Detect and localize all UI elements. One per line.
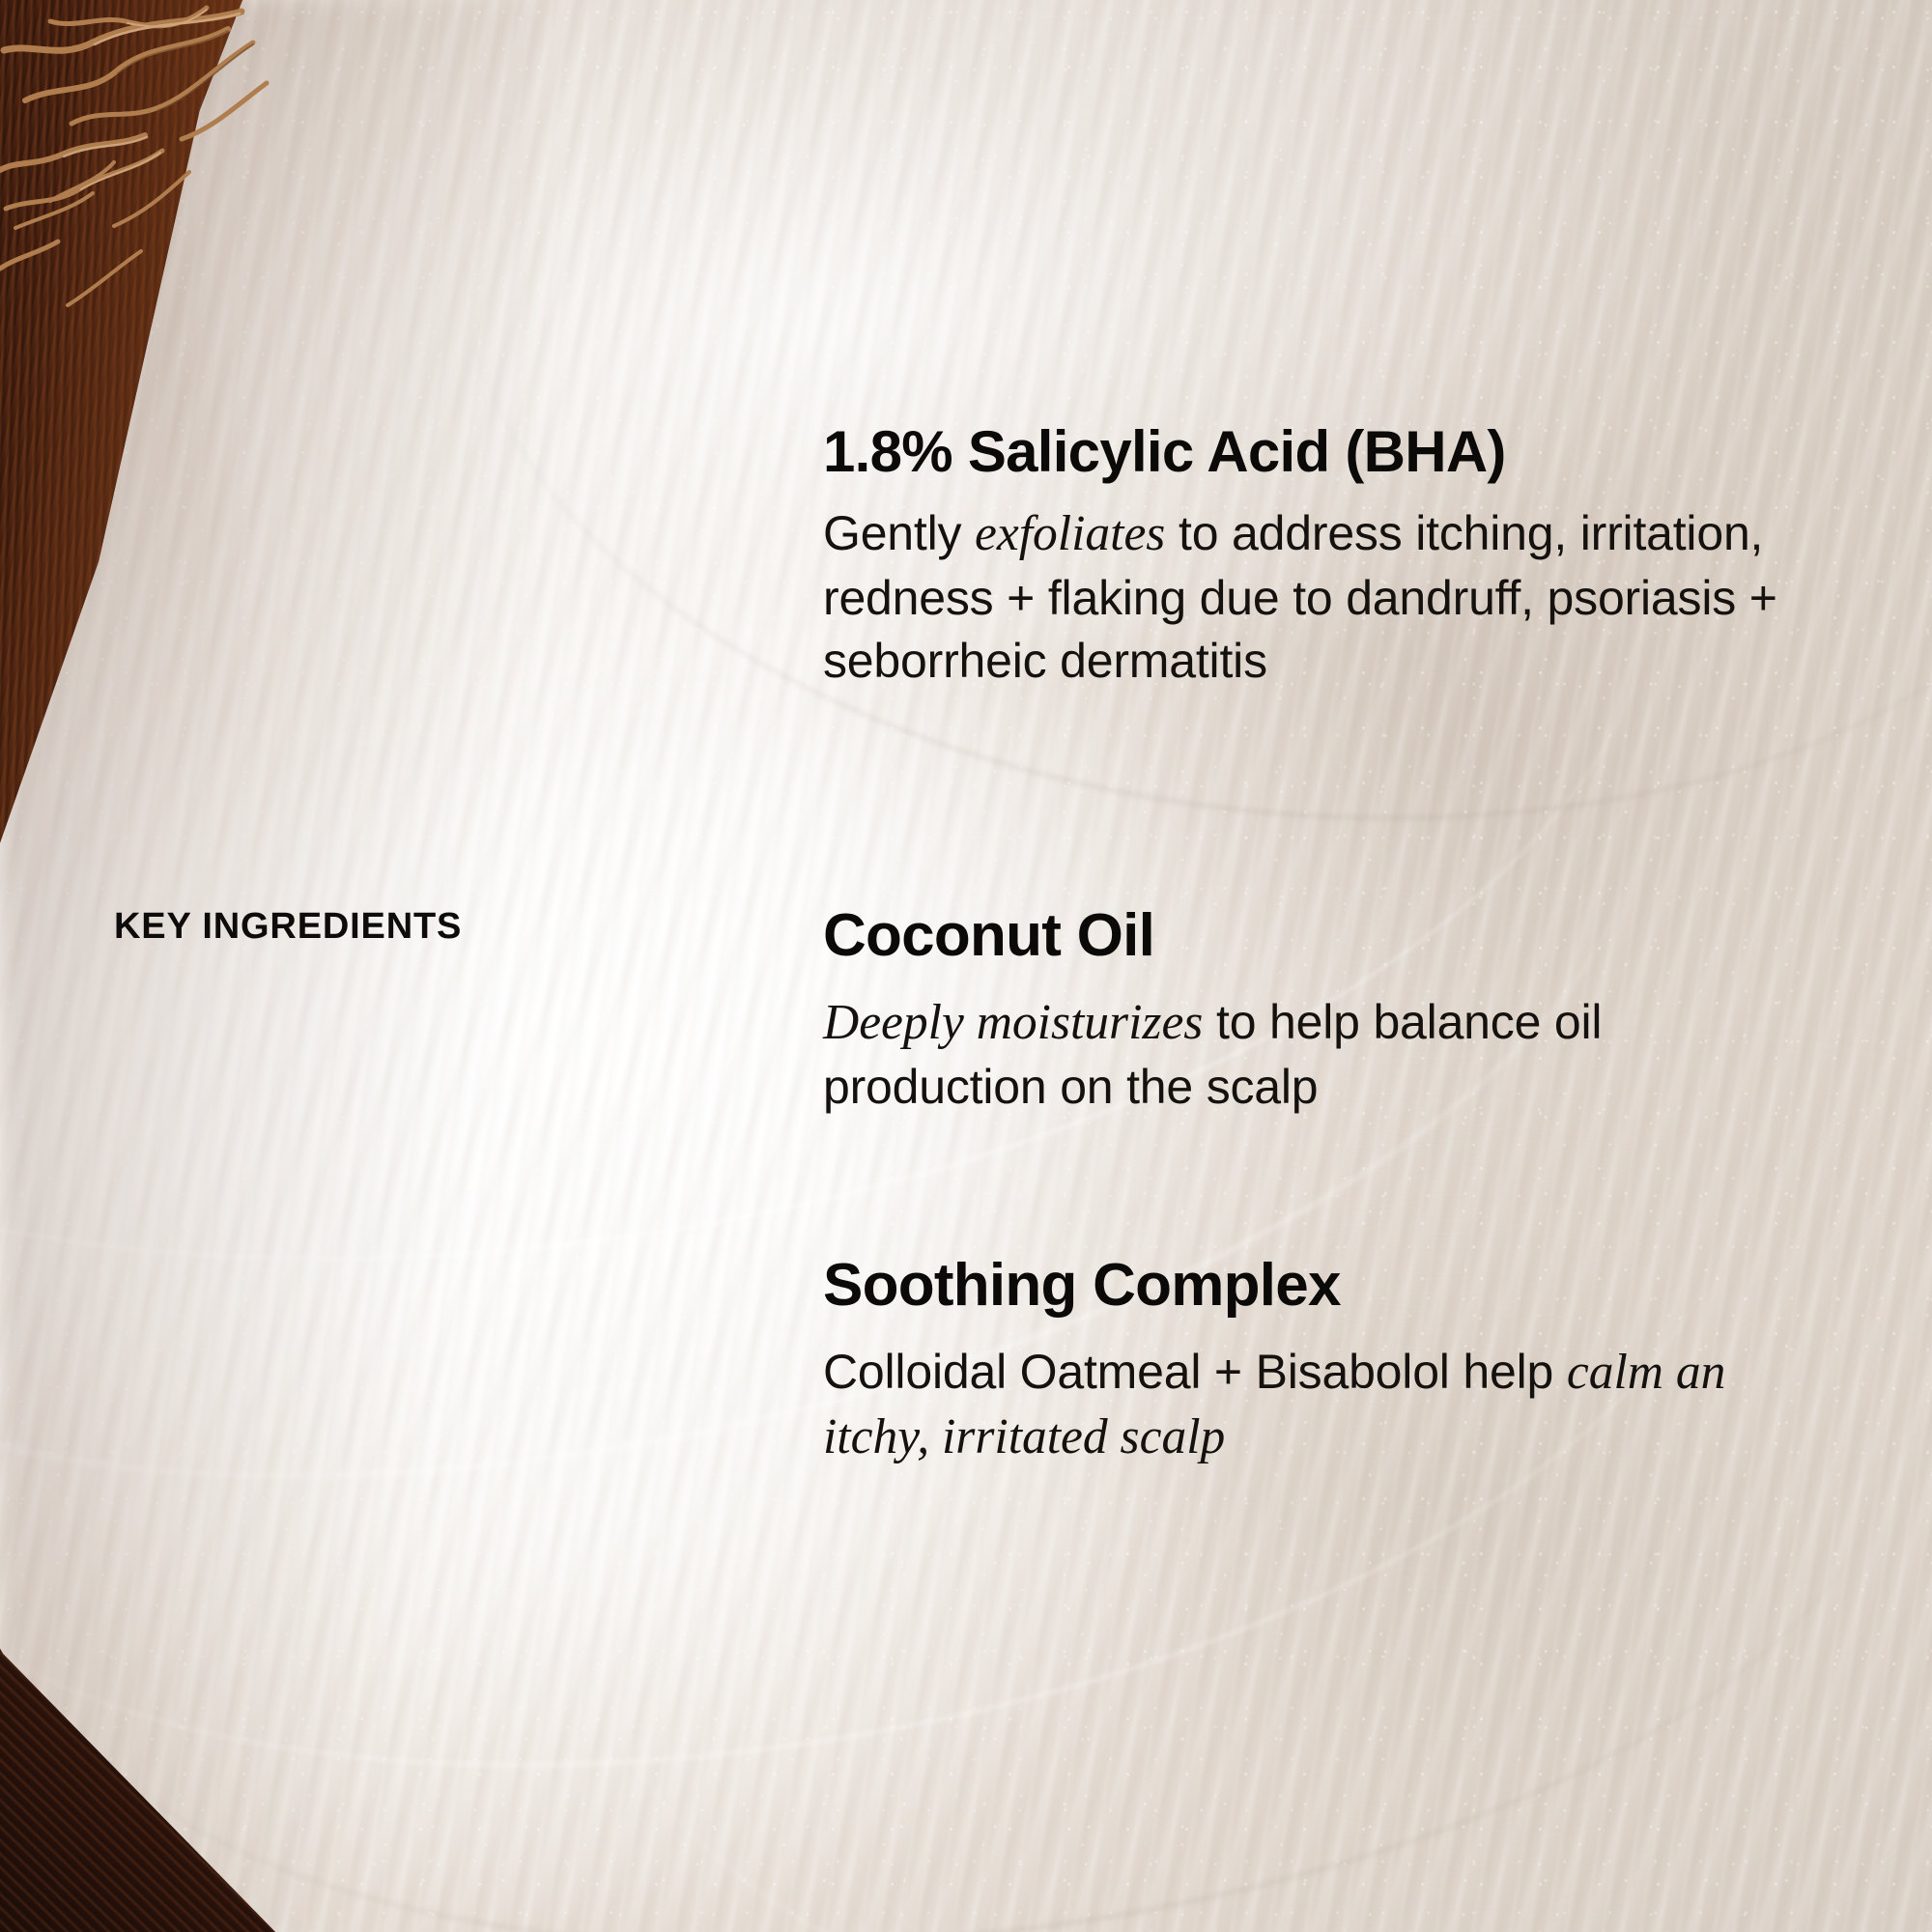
description-segment-regular: Colloidal Oatmeal + Bisabolol help <box>823 1345 1567 1399</box>
description-segment-emphasis: Deeply moisturizes <box>823 995 1203 1050</box>
ingredient-item-soothing-complex: Soothing Complex Colloidal Oatmeal + Bis… <box>823 1256 1799 1470</box>
ingredient-description: Deeply moisturizes to help balance oil p… <box>823 991 1799 1119</box>
description-segment-regular: Gently <box>823 506 975 560</box>
ingredient-panel: KEY INGREDIENTS 1.8% Salicylic Acid (BHA… <box>0 0 1932 1932</box>
ingredient-item-salicylic-acid: 1.8% Salicylic Acid (BHA) Gently exfolia… <box>823 423 1799 693</box>
ingredient-item-coconut-oil: Coconut Oil Deeply moisturizes to help b… <box>823 906 1799 1119</box>
description-segment-emphasis: exfoliates <box>975 506 1165 561</box>
content-layer: KEY INGREDIENTS 1.8% Salicylic Acid (BHA… <box>0 0 1932 1932</box>
ingredient-description: Colloidal Oatmeal + Bisabolol help calm … <box>823 1341 1799 1470</box>
ingredient-title: Soothing Complex <box>823 1256 1799 1316</box>
key-ingredients-label: KEY INGREDIENTS <box>114 906 462 948</box>
ingredient-title: Coconut Oil <box>823 906 1799 966</box>
ingredient-title: 1.8% Salicylic Acid (BHA) <box>823 423 1799 481</box>
ingredient-description: Gently exfoliates to address itching, ir… <box>823 502 1799 693</box>
